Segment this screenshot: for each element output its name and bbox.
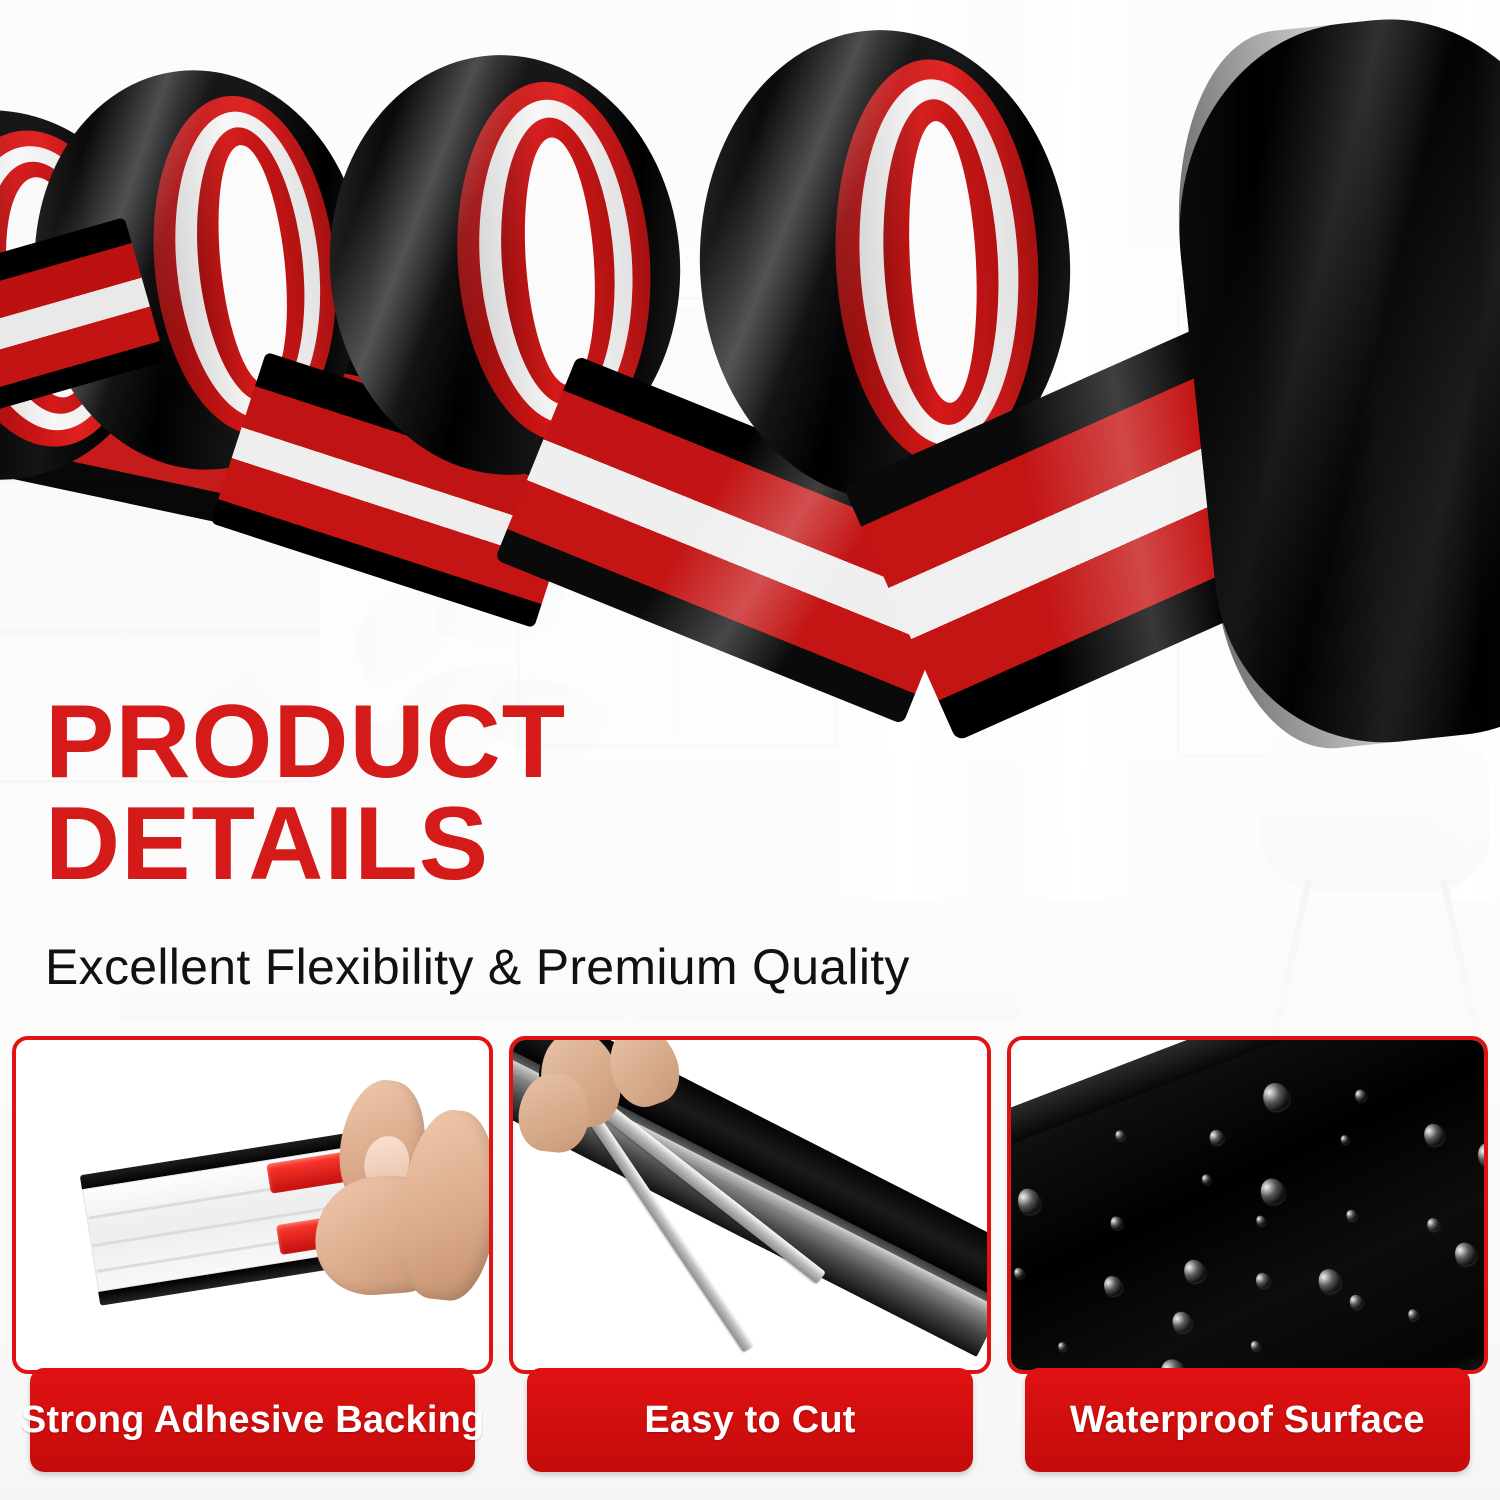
- water-droplet: [1339, 1134, 1350, 1145]
- water-droplet: [1012, 1266, 1025, 1280]
- tape-coil-5: [1158, 1, 1500, 759]
- feature-card-easy-to-cut[interactable]: Easy to Cut: [509, 1036, 990, 1374]
- water-droplet: [1315, 1266, 1344, 1296]
- water-droplet: [1180, 1256, 1208, 1285]
- feature-image-waterproof-surface: [1011, 1040, 1484, 1370]
- feature-caption-bar: Strong Adhesive Backing: [30, 1368, 475, 1472]
- feature-caption-bar: Waterproof Surface: [1025, 1368, 1470, 1472]
- water-droplet: [1345, 1208, 1358, 1222]
- feature-caption-text: Strong Adhesive Backing: [21, 1399, 485, 1442]
- feature-caption-text: Easy to Cut: [644, 1399, 855, 1442]
- black-tape-surface: [1011, 1040, 1484, 1370]
- feature-card-strong-adhesive-backing[interactable]: Strong Adhesive Backing: [12, 1036, 493, 1374]
- water-droplet: [1101, 1273, 1125, 1298]
- water-droplet: [1114, 1129, 1126, 1142]
- water-droplet: [1169, 1309, 1194, 1335]
- water-droplet: [1474, 1139, 1484, 1171]
- hand-holding-tape: [305, 1080, 489, 1310]
- feature-caption-text: Waterproof Surface: [1070, 1399, 1425, 1442]
- water-droplet: [1207, 1128, 1225, 1147]
- hero-coiled-tape: [0, 0, 1500, 760]
- headline-line-2: DETAILS: [45, 794, 566, 896]
- water-droplet: [1257, 1175, 1289, 1208]
- feature-caption-bar: Easy to Cut: [527, 1368, 972, 1472]
- water-droplet: [1353, 1088, 1368, 1103]
- feature-card-waterproof-surface[interactable]: Waterproof Surface: [1007, 1036, 1488, 1374]
- water-droplet: [1014, 1185, 1044, 1217]
- water-droplet: [1425, 1216, 1441, 1232]
- water-droplet: [1406, 1308, 1419, 1322]
- water-droplet: [1108, 1214, 1124, 1230]
- water-droplet: [1249, 1340, 1261, 1353]
- feature-panels: Strong Adhesive Backing Easy to Cu: [0, 1036, 1500, 1476]
- headline-line-1: PRODUCT: [45, 692, 566, 794]
- product-detail-infographic: PRODUCT DETAILS Excellent Flexibility & …: [0, 0, 1500, 1500]
- water-droplet: [1056, 1341, 1067, 1352]
- page-subtitle: Excellent Flexibility & Premium Quality: [45, 938, 910, 996]
- feature-image-strong-adhesive-backing: [16, 1040, 489, 1370]
- water-droplet: [1254, 1271, 1272, 1290]
- water-droplet: [1259, 1079, 1293, 1114]
- feature-image-easy-to-cut: [513, 1040, 986, 1370]
- water-droplet: [1254, 1214, 1266, 1227]
- water-droplet: [1451, 1240, 1479, 1269]
- water-droplet: [1421, 1121, 1448, 1149]
- water-droplet: [1200, 1173, 1212, 1186]
- page-title: PRODUCT DETAILS: [45, 692, 566, 896]
- water-droplet: [1347, 1293, 1364, 1311]
